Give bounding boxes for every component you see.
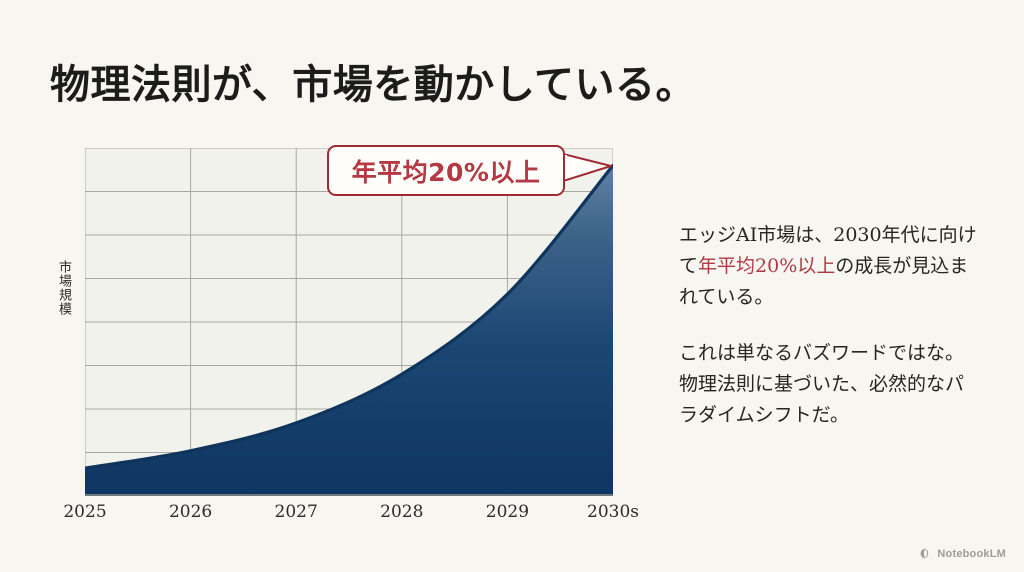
chart-plot-area bbox=[85, 148, 613, 496]
slide-canvas: 物理法則が、市場を動かしている。 市場規模 bbox=[0, 0, 1024, 572]
x-axis-labels: 202520262027202820292030s bbox=[85, 502, 613, 528]
notebooklm-watermark-label: NotebookLM bbox=[937, 548, 1006, 560]
notebooklm-logo-icon bbox=[919, 547, 932, 560]
paragraph1-highlight: 年平均20%以上 bbox=[698, 255, 835, 277]
body-paragraph-1: エッジAI市場は、2030年代に向けて年平均20%以上の成長が見込まれている。 bbox=[679, 220, 979, 312]
y-axis-title: 市場規模 bbox=[50, 260, 70, 316]
paragraph-spacer bbox=[679, 312, 979, 338]
body-paragraph-2: これは単なるバズワードではな。物理法則に基づいた、必然的なパラダイムシフトだ。 bbox=[679, 338, 979, 430]
x-tick-label: 2030s bbox=[587, 502, 639, 522]
x-tick-label: 2028 bbox=[380, 502, 423, 522]
growth-rate-callout-label: 年平均20%以上 bbox=[352, 153, 541, 189]
body-copy: エッジAI市場は、2030年代に向けて年平均20%以上の成長が見込まれている。 … bbox=[679, 220, 979, 431]
x-tick-label: 2029 bbox=[486, 502, 529, 522]
growth-rate-callout: 年平均20%以上 bbox=[327, 145, 565, 196]
x-tick-label: 2026 bbox=[169, 502, 212, 522]
area-fill-path bbox=[85, 165, 613, 496]
notebooklm-watermark: NotebookLM bbox=[919, 547, 1006, 560]
callout-tail-icon bbox=[563, 152, 617, 184]
page-title: 物理法則が、市場を動かしている。 bbox=[50, 52, 696, 110]
area-chart-svg bbox=[85, 148, 613, 496]
x-tick-label: 2027 bbox=[275, 502, 318, 522]
market-growth-chart: 市場規模 202520262027202820292030s bbox=[44, 140, 644, 530]
x-tick-label: 2025 bbox=[63, 502, 106, 522]
